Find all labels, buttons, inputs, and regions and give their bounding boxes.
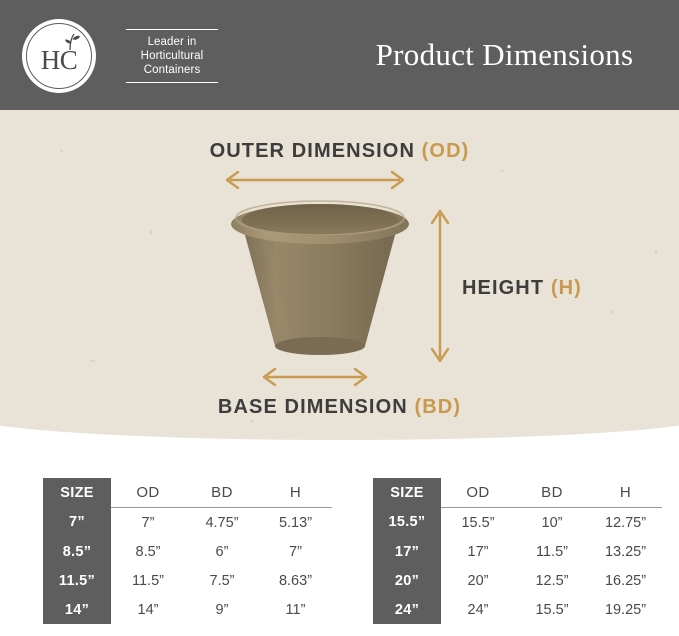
base-dimension-text: BASE DIMENSION bbox=[218, 396, 408, 418]
texture-speck bbox=[610, 310, 613, 313]
cell-bd: 7.5” bbox=[185, 566, 259, 595]
cell-bd: 9” bbox=[185, 595, 259, 624]
column-header-size: SIZE bbox=[373, 478, 441, 508]
cell-h: 8.63” bbox=[259, 566, 332, 595]
height-dimension-label: HEIGHT (H) bbox=[462, 277, 582, 300]
outer-dimension-label: OUTER DIMENSION (OD) bbox=[0, 140, 679, 163]
tagline-rule-bottom bbox=[126, 82, 218, 83]
cell-od: 20” bbox=[441, 566, 515, 595]
cell-size: 24” bbox=[373, 595, 441, 624]
table-row: 20” 20” 12.5” 16.25” bbox=[373, 566, 662, 595]
base-dimension-label: BASE DIMENSION (BD) bbox=[0, 396, 679, 419]
cell-h: 7” bbox=[259, 537, 332, 566]
column-header-bd: BD bbox=[515, 478, 589, 508]
planter-pot-illustration bbox=[229, 198, 411, 366]
column-header-size: SIZE bbox=[43, 478, 111, 508]
size-table-right: SIZE OD BD H 15.5” 15.5” 10” 12.75” 17” … bbox=[373, 478, 662, 624]
cell-size: 7” bbox=[43, 508, 111, 538]
column-header-bd: BD bbox=[185, 478, 259, 508]
height-dimension-arrow-icon bbox=[428, 206, 452, 366]
cell-od: 15.5” bbox=[441, 508, 515, 538]
cell-h: 16.25” bbox=[589, 566, 662, 595]
texture-speck bbox=[655, 250, 657, 254]
base-dimension-code: (BD) bbox=[414, 396, 461, 418]
cell-od: 14” bbox=[111, 595, 185, 624]
logo-initials: HC bbox=[22, 47, 96, 74]
cell-h: 12.75” bbox=[589, 508, 662, 538]
table-header: SIZE OD BD H bbox=[43, 478, 332, 508]
cell-size: 15.5” bbox=[373, 508, 441, 538]
cell-size: 14” bbox=[43, 595, 111, 624]
table-body: 15.5” 15.5” 10” 12.75” 17” 17” 11.5” 13.… bbox=[373, 508, 662, 625]
cell-bd: 4.75” bbox=[185, 508, 259, 538]
brand-logo-block: HC Leader in Horticultural Containers bbox=[22, 18, 322, 94]
cell-h: 11” bbox=[259, 595, 332, 624]
column-header-od: OD bbox=[441, 478, 515, 508]
cell-size: 8.5” bbox=[43, 537, 111, 566]
texture-speck bbox=[250, 420, 254, 422]
cell-bd: 15.5” bbox=[515, 595, 589, 624]
cell-h: 5.13” bbox=[259, 508, 332, 538]
size-table: SIZE OD BD H 15.5” 15.5” 10” 12.75” 17” … bbox=[373, 478, 662, 624]
cell-bd: 12.5” bbox=[515, 566, 589, 595]
cell-size: 20” bbox=[373, 566, 441, 595]
column-header-h: H bbox=[259, 478, 332, 508]
table-row: 15.5” 15.5” 10” 12.75” bbox=[373, 508, 662, 538]
cell-h: 13.25” bbox=[589, 537, 662, 566]
cell-size: 17” bbox=[373, 537, 441, 566]
page-title: Product Dimensions bbox=[330, 0, 679, 110]
cell-od: 17” bbox=[441, 537, 515, 566]
cell-bd: 6” bbox=[185, 537, 259, 566]
cell-od: 8.5” bbox=[111, 537, 185, 566]
brand-tagline: Leader in Horticultural Containers bbox=[141, 30, 204, 82]
outer-dimension-arrow-icon bbox=[222, 170, 408, 190]
size-table: SIZE OD BD H 7” 7” 4.75” 5.13” 8.5” 8.5”… bbox=[43, 478, 332, 624]
column-header-h: H bbox=[589, 478, 662, 508]
table-body: 7” 7” 4.75” 5.13” 8.5” 8.5” 6” 7” 11.5” … bbox=[43, 508, 332, 625]
hc-logo-icon: HC bbox=[22, 19, 96, 93]
header-bar: HC Leader in Horticultural Containers Pr… bbox=[0, 0, 679, 110]
height-dimension-code: (H) bbox=[551, 277, 582, 299]
table-header: SIZE OD BD H bbox=[373, 478, 662, 508]
texture-speck bbox=[90, 360, 95, 362]
cell-size: 11.5” bbox=[43, 566, 111, 595]
table-row: 24” 24” 15.5” 19.25” bbox=[373, 595, 662, 624]
table-row: 8.5” 8.5” 6” 7” bbox=[43, 537, 332, 566]
table-row: 7” 7” 4.75” 5.13” bbox=[43, 508, 332, 538]
column-header-od: OD bbox=[111, 478, 185, 508]
table-row: 14” 14” 9” 11” bbox=[43, 595, 332, 624]
cell-bd: 10” bbox=[515, 508, 589, 538]
table-header-row: SIZE OD BD H bbox=[373, 478, 662, 508]
texture-speck bbox=[150, 230, 152, 235]
cell-bd: 11.5” bbox=[515, 537, 589, 566]
table-row: 17” 17” 11.5” 13.25” bbox=[373, 537, 662, 566]
cell-od: 24” bbox=[441, 595, 515, 624]
cell-od: 11.5” bbox=[111, 566, 185, 595]
outer-dimension-code: (OD) bbox=[422, 140, 470, 162]
height-dimension-text: HEIGHT bbox=[462, 277, 544, 299]
base-dimension-arrow-icon bbox=[259, 367, 371, 387]
outer-dimension-text: OUTER DIMENSION bbox=[210, 140, 415, 162]
cell-h: 19.25” bbox=[589, 595, 662, 624]
table-header-row: SIZE OD BD H bbox=[43, 478, 332, 508]
brand-tagline-block: Leader in Horticultural Containers bbox=[112, 29, 218, 84]
diagram-panel: OUTER DIMENSION (OD) bbox=[0, 110, 679, 455]
texture-speck bbox=[500, 170, 504, 172]
size-table-left: SIZE OD BD H 7” 7” 4.75” 5.13” 8.5” 8.5”… bbox=[43, 478, 332, 624]
cell-od: 7” bbox=[111, 508, 185, 538]
table-row: 11.5” 11.5” 7.5” 8.63” bbox=[43, 566, 332, 595]
